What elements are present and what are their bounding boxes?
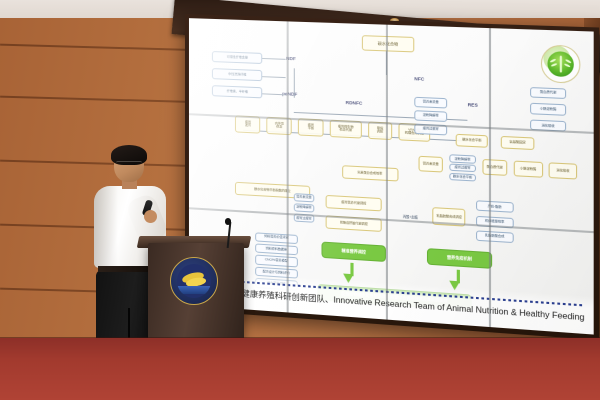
conference-hall-photo: 碳水化合物 NDF peNDF RDNFC NFC RES 可溶性纤维含量 中性… [0,0,600,400]
slide-node-sub: 淀粉降解率 [449,155,476,164]
slide-node-small: 淀粉降解率 [294,204,314,213]
slide-node-sub: 营养素流量 [418,156,443,172]
slide-node-right-far: 小肠淀粉酶 [530,103,566,115]
slide-node-right-far: 蛋白质代谢 [530,87,566,99]
slide-node-sub: 瘤胃过瘤胃 [449,164,476,173]
slide-green-box: 精准营养调控 [322,242,386,262]
slide-node-bottomleft: 饲料原料数据库 [255,243,298,255]
slide-node-sub: 碳水化合平衡 [449,172,476,181]
slide-node-right: 氨基酸固定 [501,136,534,150]
slide-node-bottomleft: 饲料营养价值评定 [255,232,298,244]
slide-node-lower-right: 产奶-脂肪 [476,201,513,213]
slide-node-right: 碳水化合平衡 [455,134,488,148]
slide-label-nfc: NFC [414,76,424,82]
video-wall-frame: 碳水化合物 NDF peNDF RDNFC NFC RES 可溶性纤维含量 中性… [185,14,599,340]
video-wall-bezel [488,28,490,327]
slide-label-res: RES [468,102,478,108]
slide-node-left: 中性洗涤纤维 [212,68,263,82]
video-wall-screen[interactable]: 碳水化合物 NDF peNDF RDNFC NFC RES 可溶性纤维含量 中性… [189,18,594,334]
presentation-slide: 碳水化合物 NDF peNDF RDNFC NFC RES 可溶性纤维含量 中性… [189,18,594,334]
slide-node-sub: 消化吸收 [549,163,577,179]
podium-mic-icon [225,218,231,225]
institution-crest-icon [170,257,218,305]
slide-node-lower: 瘤胃营养代谢调控 [326,195,382,211]
slide-label-rdnfc: RDNFC [346,100,363,106]
glasses-icon [116,161,142,167]
slide-node-lower: 氮素蛋白合成效率 [342,165,398,181]
slide-node-lower-right: 乳脂肪酸合成 [476,231,513,243]
slide-node-small: 营养素流量 [294,193,314,202]
university-emblem-icon [541,45,580,84]
red-carpet [0,338,600,400]
hand [144,210,157,223]
slide-node-sub: 蛋白质代谢 [482,159,507,175]
video-wall-bezel [386,25,388,320]
slide-node-sub: 小肠淀粉酶 [513,161,542,178]
slide-node-right: 淀粉降解率 [414,110,447,122]
slide-node-left: 可溶性纤维含量 [212,51,263,64]
shirt-shading [94,186,118,268]
slide-green-box: 营养免疫机制 [427,248,493,269]
slide-node-left: 纤维素、半纤维 [212,85,263,99]
slide-node-right: 营养素流量 [414,97,447,109]
slide-node-bottomleft: CNCPS营养模型 [255,255,298,267]
video-wall-bezel [286,21,288,312]
